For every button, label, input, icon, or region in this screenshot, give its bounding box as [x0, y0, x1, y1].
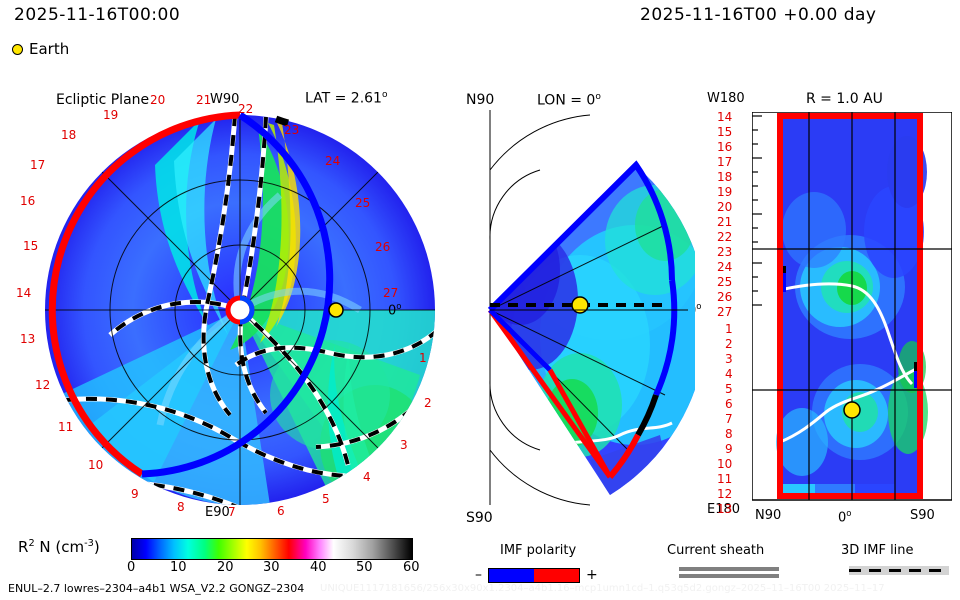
carrington-y-14: 14: [717, 110, 732, 124]
imf-positive-swatch: [534, 568, 580, 583]
carrington-y-22: 22: [717, 230, 732, 244]
carrington-x-n90: N90: [755, 508, 781, 523]
ecliptic-hour-24: 24: [325, 154, 340, 168]
colorbar-ticks: 0 10 20 30 40 50 60: [120, 560, 440, 580]
ecliptic-hour-12: 12: [35, 378, 50, 392]
carrington-y-7: 7: [725, 412, 733, 426]
imf-minus-sign: –: [475, 567, 482, 583]
carrington-y-19: 19: [717, 185, 732, 199]
imf-polarity-title: IMF polarity: [500, 543, 576, 558]
ecliptic-hour-21: 21: [196, 93, 211, 107]
carrington-y-4: 4: [725, 367, 733, 381]
carrington-y-27: 27: [717, 305, 732, 319]
carrington-y-12: 12: [717, 487, 732, 501]
ecliptic-hour-11: 11: [58, 420, 73, 434]
ecliptic-hour-16: 16: [20, 194, 35, 208]
carrington-y-23: 23: [717, 245, 732, 259]
ecliptic-hour-17: 17: [30, 158, 45, 172]
carrington-y-2: 2: [725, 337, 733, 351]
carrington-y-10: 10: [717, 457, 732, 471]
carrington-y-13: 13: [717, 502, 732, 516]
ecliptic-hour-23: 23: [284, 123, 299, 137]
ecliptic-hour-10: 10: [88, 458, 103, 472]
colorbar-tick-10: 10: [170, 560, 187, 575]
carrington-y-1: 1: [725, 322, 733, 336]
carrington-y-labels: 14 15 16 17 18 19 20 21 22 23 24 25 26 2…: [700, 0, 770, 540]
ecliptic-hour-8: 8: [177, 500, 185, 514]
meridional-plane-plot: [460, 105, 695, 510]
earth-position-carrington: [844, 402, 860, 418]
meridional-label-south: S90: [466, 510, 493, 526]
carrington-title: R = 1.0 AU: [806, 91, 883, 107]
ecliptic-hour-22: 22: [238, 102, 253, 116]
carrington-y-3: 3: [725, 352, 733, 366]
carrington-y-9: 9: [725, 442, 733, 456]
ecliptic-hour-19: 19: [103, 108, 118, 122]
ecliptic-hour-6: 6: [277, 504, 285, 518]
model-string: ENUL–2.7 lowres–2304–a4b1 WSA_V2.2 GONGZ…: [8, 582, 304, 595]
ecliptic-hour-20: 20: [150, 93, 165, 107]
carrington-x-s90: S90: [910, 508, 935, 523]
colorbar-tick-0: 0: [127, 560, 135, 575]
imf-line-legend: [849, 566, 949, 575]
carrington-y-17: 17: [717, 155, 732, 169]
ecliptic-hour-26: 26: [375, 240, 390, 254]
current-sheath-legend: [679, 567, 779, 578]
carrington-y-15: 15: [717, 125, 732, 139]
carrington-x-zero: 0o: [838, 508, 851, 525]
carrington-y-25: 25: [717, 275, 732, 289]
carrington-y-16: 16: [717, 140, 732, 154]
imf-polarity-legend: – +: [475, 567, 598, 583]
colorbar-label: R2 N (cm-3): [18, 538, 100, 556]
colorbar-tick-60: 60: [403, 560, 420, 575]
colorbar-gradient: [131, 538, 413, 560]
current-sheath-title: Current sheath: [667, 543, 764, 558]
colorbar-tick-40: 40: [310, 560, 327, 575]
ecliptic-edge-zero: 0o: [388, 301, 401, 318]
ecliptic-hour-14: 14: [16, 286, 31, 300]
carrington-y-11: 11: [717, 472, 732, 486]
imf-negative-swatch: [488, 568, 534, 583]
carrington-y-18: 18: [717, 170, 732, 184]
ecliptic-hour-3: 3: [400, 438, 408, 452]
ecliptic-hour-15: 15: [23, 239, 38, 253]
carrington-y-20: 20: [717, 200, 732, 214]
colorbar-tick-20: 20: [217, 560, 234, 575]
ecliptic-hour-9: 9: [131, 487, 139, 501]
ecliptic-hour-labels: 1 2 3 4 5 6 7 8 9 10 11 12 13 14 15 16 1…: [0, 0, 480, 540]
colorbar-tick-50: 50: [356, 560, 373, 575]
carrington-y-8: 8: [725, 427, 733, 441]
ecliptic-edge-e90: E90: [205, 505, 230, 520]
carrington-y-21: 21: [717, 215, 732, 229]
colorbar-tick-30: 30: [263, 560, 280, 575]
ecliptic-edge-w90: W90: [210, 92, 239, 107]
ecliptic-hour-4: 4: [363, 470, 371, 484]
carrington-y-6: 6: [725, 397, 733, 411]
ecliptic-hour-13: 13: [20, 332, 35, 346]
carrington-y-24: 24: [717, 260, 732, 274]
carrington-y-26: 26: [717, 290, 732, 304]
ecliptic-hour-27: 27: [383, 286, 398, 300]
watermark: UNIQUE1117181656/256x30x90x1.2304–a4b1.1…: [320, 583, 885, 594]
carrington-map-plot: [752, 112, 952, 504]
ecliptic-hour-1: 1: [419, 351, 427, 365]
ecliptic-hour-25: 25: [355, 196, 370, 210]
earth-position-meridional: [572, 297, 588, 313]
imf-line-title: 3D IMF line: [841, 543, 914, 558]
imf-plus-sign: +: [586, 567, 598, 583]
ecliptic-hour-5: 5: [322, 492, 330, 506]
carrington-y-5: 5: [725, 382, 733, 396]
ecliptic-hour-2: 2: [424, 396, 432, 410]
ecliptic-hour-18: 18: [61, 128, 76, 142]
